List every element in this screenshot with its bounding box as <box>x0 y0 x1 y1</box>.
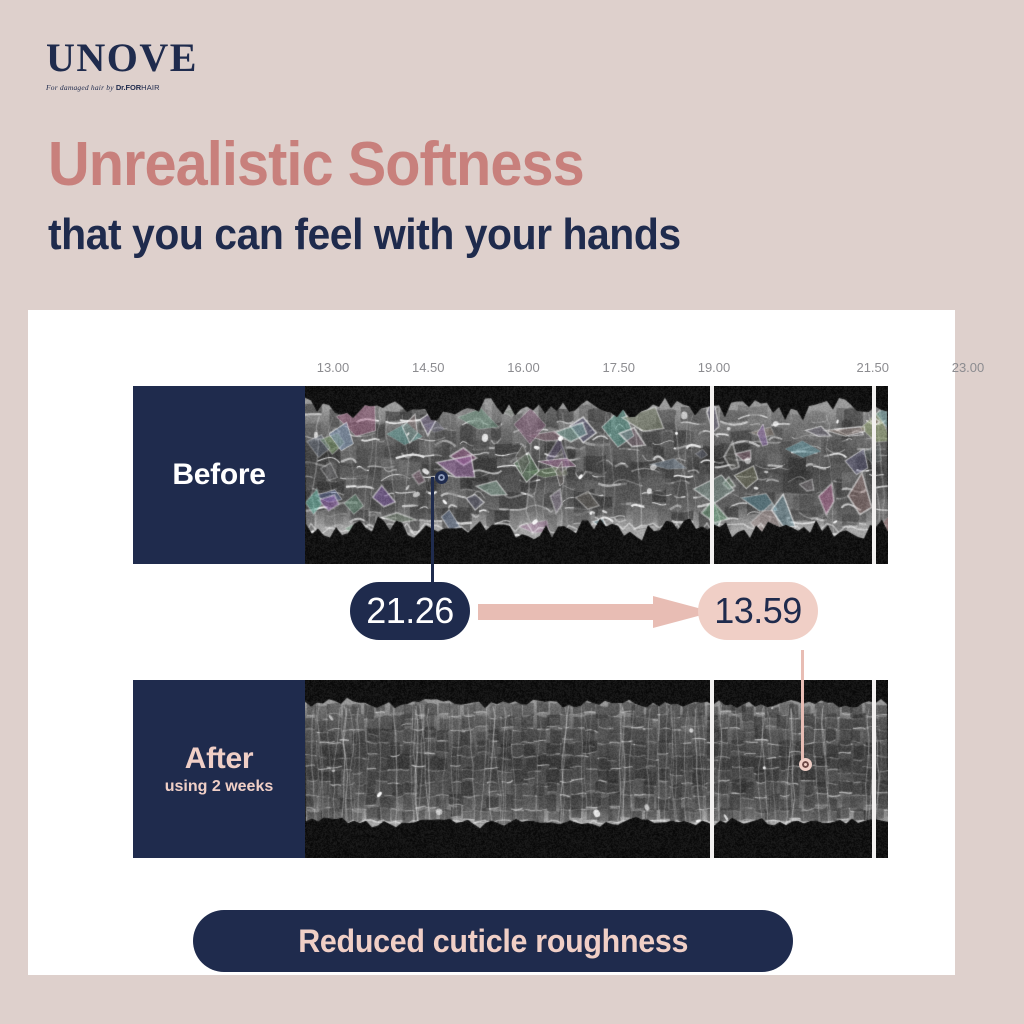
value-badge-before: 21.26 <box>350 582 470 640</box>
axis-tick-label: 21.50 <box>856 360 889 375</box>
sem-divider <box>872 386 876 564</box>
content-card: 13.0014.5016.0017.5019.0021.5023.00 Befo… <box>28 310 955 975</box>
axis-tick-label: 13.00 <box>317 360 350 375</box>
brand-tagline-prefix: For damaged hair by <box>46 83 116 92</box>
data-point-marker-after <box>799 758 812 771</box>
brand-tagline: For damaged hair by Dr.FORHAIR <box>46 83 198 92</box>
sem-divider <box>872 680 876 858</box>
connector-line-after <box>801 650 804 760</box>
axis-tick-label: 19.00 <box>698 360 731 375</box>
row-label-before: Before <box>133 386 305 564</box>
sem-divider <box>710 680 714 858</box>
brand-tagline-bold: Dr.FOR <box>116 83 141 92</box>
row-label-after: After using 2 weeks <box>133 680 305 858</box>
sem-micrograph-before <box>305 386 888 564</box>
result-banner-label: Reduced cuticle roughness <box>298 923 688 960</box>
comparison-group: 21.26 13.59 <box>28 582 955 646</box>
axis-tick-label: 14.50 <box>412 360 445 375</box>
data-point-marker-before <box>435 471 448 484</box>
axis-tick-label: 16.00 <box>507 360 540 375</box>
axis-tick-label: 23.00 <box>952 360 985 375</box>
sem-row-before: Before <box>133 386 888 564</box>
brand-tagline-rest: HAIR <box>141 83 160 92</box>
headline-secondary: that you can feel with your hands <box>48 213 681 257</box>
row-label-before-main: Before <box>172 460 265 490</box>
brand-wordmark: UNOVE <box>46 38 198 78</box>
brand-logo: UNOVE For damaged hair by Dr.FORHAIR <box>46 38 198 92</box>
arrow-right-icon <box>478 596 713 628</box>
sem-images-before <box>305 386 888 564</box>
headline-group: Unrealistic Softness that you can feel w… <box>48 136 728 257</box>
roughness-axis: 13.0014.5016.0017.5019.0021.5023.00 <box>303 360 938 382</box>
sem-divider <box>710 386 714 564</box>
row-label-after-sub: using 2 weeks <box>165 779 274 795</box>
headline-primary: Unrealistic Softness <box>48 136 681 195</box>
value-badge-after: 13.59 <box>698 582 818 640</box>
axis-tick-label: 17.50 <box>602 360 635 375</box>
row-label-after-main: After <box>185 744 254 774</box>
result-banner: Reduced cuticle roughness <box>193 910 793 972</box>
sem-row-after: After using 2 weeks <box>133 680 888 858</box>
